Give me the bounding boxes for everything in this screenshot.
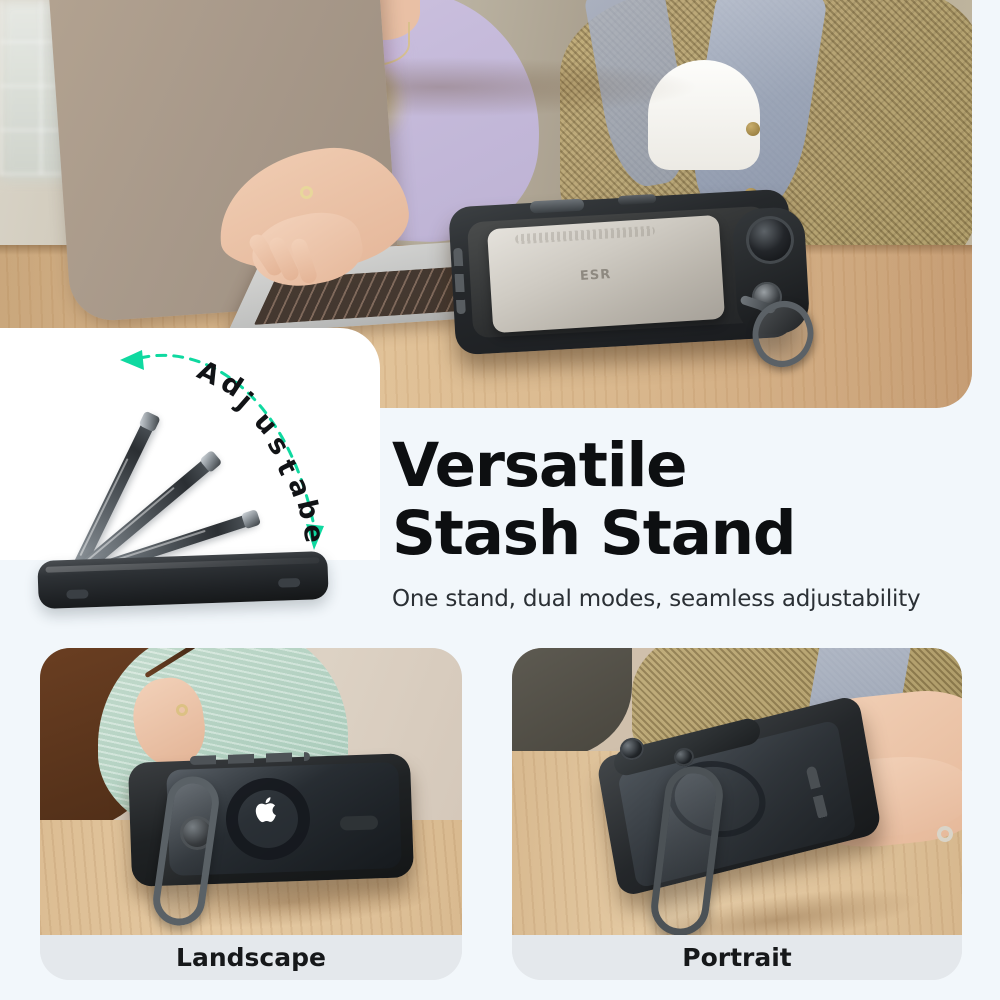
base-notch: [66, 589, 88, 599]
headline-subtitle: One stand, dual modes, seamless adjustab…: [392, 586, 992, 612]
apple-logo-icon: [254, 796, 281, 825]
stand-base: [37, 551, 328, 609]
case-side-pill: [340, 815, 378, 830]
landscape-caption-text: Landscape: [176, 943, 326, 972]
landscape-caption-bar: Landscape: [40, 935, 462, 980]
landscape-photo: [40, 648, 462, 935]
adjustable-arc-arrow: [118, 338, 358, 568]
base-notch: [278, 578, 300, 588]
portrait-mode-card: Portrait: [512, 648, 962, 980]
esr-logo: ESR: [580, 267, 612, 284]
camera-lens-primary: [746, 216, 794, 264]
ring: [300, 186, 313, 199]
headline-line-1: Versatile: [392, 432, 992, 500]
headline-line-2: Stash Stand: [392, 500, 992, 568]
portrait-caption-bar: Portrait: [512, 935, 962, 980]
portrait-caption-text: Portrait: [682, 943, 792, 972]
cardigan-button: [746, 122, 760, 136]
landscape-mode-card: Landscape: [40, 648, 462, 980]
portrait-photo: [512, 648, 962, 935]
headline-block: Versatile Stash Stand: [392, 432, 992, 568]
product-marketing-page: ESR A d j u s t a b e: [0, 0, 1000, 1000]
ring: [176, 704, 188, 716]
